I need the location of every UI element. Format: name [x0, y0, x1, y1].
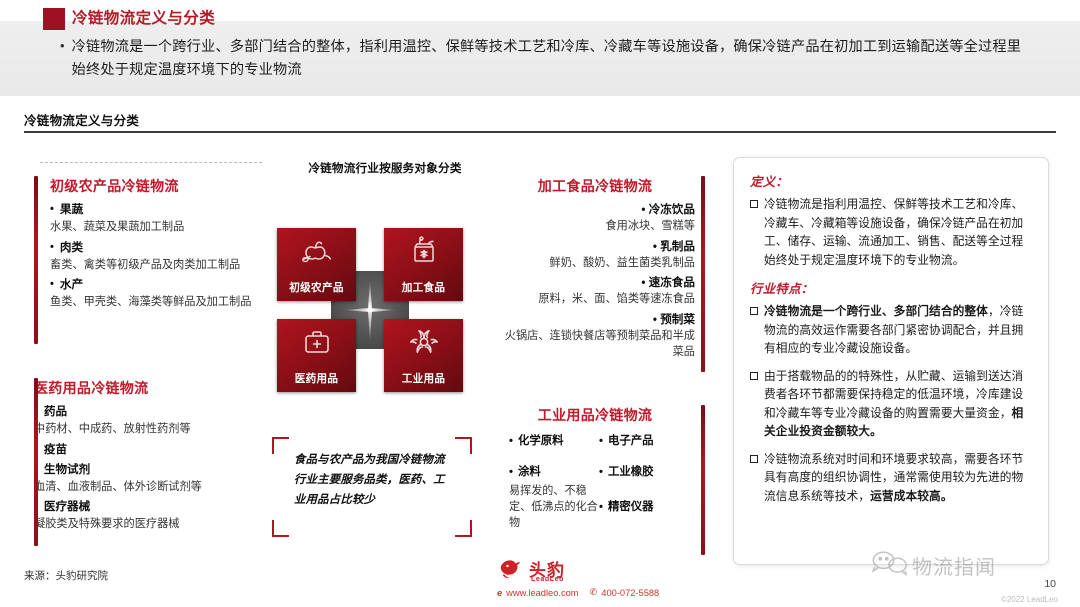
industrial-col-right: • 电子产品 • 工业橡胶 • 精密仪器: [599, 433, 689, 531]
globe-icon: e: [497, 588, 502, 598]
item-label: 冷冻饮品: [649, 203, 695, 216]
item-label: 预制菜: [660, 313, 695, 326]
bullet-dot-icon: •: [509, 464, 513, 481]
red-accent-bar: [34, 176, 38, 344]
diagram-title: 冷链物流行业按服务对象分类: [285, 160, 485, 176]
feature-item: 冷链物流是一个跨行业、多部门结合的整体，冷链物流的高效运作需要各部门紧密协调配合…: [750, 303, 1033, 359]
definition-text: 冷链物流是指利用温控、保鲜等技术工艺和冷库、冷藏车、冷藏箱等设施设备，确保冷链产…: [764, 196, 1033, 270]
list-item: • 速冻食品: [495, 274, 695, 291]
insight-callout: 食品与农产品为我国冷链物流行业主要服务品类，医药、工业用品占比较少: [272, 437, 472, 537]
item-label: 涂料: [518, 464, 541, 481]
list-item: • 医疗器械: [34, 498, 270, 515]
biohazard-icon: [406, 326, 442, 358]
item-label: 果蔬: [60, 201, 83, 218]
tile-label: 医药用品: [295, 371, 339, 386]
item-label: 医疗器械: [44, 498, 90, 515]
vegetables-icon: [299, 235, 335, 267]
item-desc: 水果、蔬菜及果蔬加工制品: [50, 219, 270, 236]
list-item: • 冷冻饮品: [495, 201, 695, 218]
item-desc: 鲜奶、酸奶、益生菌类乳制品: [495, 255, 695, 272]
feature-bold-lead: 冷链物流是一个跨行业、多部门结合的整体: [764, 305, 988, 318]
frozen-food-box-icon: [406, 235, 442, 267]
item-desc: 血清、血液制品、体外诊断试剂等: [34, 479, 270, 496]
contact-info: e www.leadleo.com ✆ 400-072-5588: [497, 587, 659, 598]
block-title: 医药用品冷链物流: [34, 378, 270, 398]
item-label: 化学原料: [518, 433, 564, 450]
page-number: 10: [1044, 578, 1056, 590]
item-label: 水产: [60, 276, 83, 293]
medical-kit-icon: [299, 326, 335, 358]
list-item: • 生物试剂: [34, 461, 270, 478]
list-item: • 水产: [50, 276, 270, 293]
block-title: 工业用品冷链物流: [495, 405, 695, 425]
classification-diagram: 初级农产品 加工食品 医药用品: [277, 228, 463, 392]
item-label: 疫苗: [44, 441, 67, 458]
bullet-dot-icon: •: [599, 433, 603, 450]
header-bullet-text: 冷链物流是一个跨行业、多部门结合的整体，指利用温控、保鲜等技术工艺和冷库、冷藏车…: [72, 36, 1032, 82]
list-item: • 涂料: [509, 464, 599, 481]
item-desc: 中药材、中成药、放射性药剂等: [34, 421, 270, 438]
list-item: • 化学原料: [509, 433, 599, 450]
bullet-dot-icon: •: [50, 276, 54, 293]
source-note: 来源：头豹研究院: [24, 568, 108, 583]
item-label: 药品: [44, 403, 67, 420]
corner-bracket-bl: [272, 520, 289, 537]
dashed-divider: [40, 162, 262, 163]
leopard-logo-icon: [498, 557, 526, 581]
bullet-dot-icon: •: [641, 276, 648, 289]
diagram-tile-industrial[interactable]: 工业用品: [384, 319, 463, 392]
list-item: • 疫苗: [34, 441, 270, 458]
industrial-col-left: • 化学原料 • 涂料 易挥发的、不稳定、低沸点的化合物: [509, 433, 599, 531]
item-label: 精密仪器: [608, 499, 654, 516]
item-desc: 食用冰块、雪糕等: [495, 218, 695, 235]
tile-label: 加工食品: [402, 280, 446, 295]
phone-icon: ✆: [590, 587, 598, 598]
watermark: 物流指闻: [868, 548, 1058, 582]
definition-heading: 定义：: [750, 172, 1033, 190]
wechat-icon: [868, 549, 912, 582]
section-divider: [24, 131, 1056, 133]
phone-text: 400-072-5588: [601, 588, 659, 598]
item-label: 速冻食品: [649, 276, 695, 289]
definition-item: 冷链物流是指利用温控、保鲜等技术工艺和冷库、冷藏车、冷藏箱等设施设备，确保冷链产…: [750, 196, 1033, 270]
category-block-industrial: 工业用品冷链物流 • 化学原料 • 涂料 易挥发的、不稳定、低沸点的化合物 • …: [495, 405, 695, 531]
list-item: • 乳制品: [495, 238, 695, 255]
section-title: 冷链物流定义与分类: [24, 110, 139, 129]
item-desc: 火锅店、连锁快餐店等预制菜品和半成菜品: [495, 328, 695, 361]
checkbox-square-icon: [750, 307, 758, 315]
item-label: 生物试剂: [44, 461, 90, 478]
item-desc: 原料，米、面、馅类等速冻食品: [495, 291, 695, 308]
list-item: • 果蔬: [50, 201, 270, 218]
logo-subtext: LeadLeo: [531, 576, 564, 583]
bullet-dot-icon: •: [599, 464, 603, 481]
header-red-marker: [43, 8, 65, 30]
diagram-tile-processed-food[interactable]: 加工食品: [384, 228, 463, 301]
list-item: • 电子产品: [599, 433, 689, 450]
block-title: 加工食品冷链物流: [495, 176, 695, 196]
bullet-dot-icon: •: [50, 201, 54, 218]
category-block-processed-food: 加工食品冷链物流 • 冷冻饮品 食用冰块、雪糕等 • 乳制品 鲜奶、酸奶、益生菌…: [495, 176, 695, 361]
item-label: 乳制品: [660, 240, 695, 253]
category-block-pharma: 医药用品冷链物流 • 药品 中药材、中成药、放射性药剂等 • 疫苗 • 生物试剂…: [34, 378, 270, 558]
insight-text: 食品与农产品为我国冷链物流行业主要服务品类，医药、工业用品占比较少: [294, 450, 454, 510]
diagram-tile-pharma[interactable]: 医药用品: [277, 319, 356, 392]
list-item: • 工业橡胶: [599, 464, 689, 481]
checkbox-square-icon: [750, 200, 758, 208]
item-label: 工业橡胶: [608, 464, 654, 481]
bullet-dot-icon: •: [50, 239, 54, 256]
corner-bracket-tl: [272, 437, 289, 454]
bullet-dot-icon: •: [641, 203, 648, 216]
checkbox-square-icon: [750, 372, 758, 380]
tile-label: 工业用品: [402, 371, 446, 386]
feature-item: 由于搭载物品的的特殊性，从贮藏、运输到送达消费者各环节都需要保持稳定的低温环境，…: [750, 368, 1033, 442]
list-item: • 预制菜: [495, 311, 695, 328]
copyright-text: ©2022 LeadLeo: [1001, 595, 1058, 604]
item-desc: 畜类、禽类等初级产品及肉类加工制品: [50, 257, 270, 274]
red-accent-bar: [701, 405, 705, 555]
definition-panel: 定义： 冷链物流是指利用温控、保鲜等技术工艺和冷库、冷藏车、冷藏箱等设施设备，确…: [733, 157, 1049, 565]
feature-text: 冷链物流系统对时间和环境要求较高，需要各环节具有高度的组织协调性，通常需使用较为…: [764, 451, 1033, 507]
features-heading: 行业特点：: [750, 279, 1033, 297]
item-label: 肉类: [60, 239, 83, 256]
item-desc: 凝胶类及特殊要求的医疗器械: [34, 516, 270, 533]
corner-bracket-br: [455, 520, 472, 537]
list-item: • 肉类: [50, 239, 270, 256]
feature-item: 冷链物流系统对时间和环境要求较高，需要各环节具有高度的组织协调性，通常需使用较为…: [750, 451, 1033, 507]
feature-bold-tail: 运营成本较高。: [870, 490, 953, 503]
corner-bracket-tr: [455, 437, 472, 454]
header-title: 冷链物流定义与分类: [72, 6, 215, 28]
feature-rest: 由于搭载物品的的特殊性，从贮藏、运输到送达消费者各环节都需要保持稳定的低温环境，…: [764, 370, 1023, 420]
bullet-dot-icon: •: [599, 499, 603, 516]
tile-label: 初级农产品: [289, 280, 343, 295]
watermark-text: 物流指闻: [912, 551, 996, 580]
header-band: 冷链物流定义与分类 • 冷链物流是一个跨行业、多部门结合的整体，指利用温控、保鲜…: [0, 0, 1080, 96]
item-label: 电子产品: [608, 433, 654, 450]
list-item: • 药品: [34, 403, 270, 420]
item-desc: 易挥发的、不稳定、低沸点的化合物: [509, 483, 599, 531]
bullet-dot-icon: •: [509, 433, 513, 450]
red-accent-bar: [701, 176, 705, 372]
leadleo-logo: 头豹 LeadLeo e www.leadleo.com ✆ 400-072-5…: [498, 557, 718, 603]
bullet-dot-icon: •: [60, 36, 65, 56]
feature-text: 冷链物流是一个跨行业、多部门结合的整体，冷链物流的高效运作需要各部门紧密协调配合…: [764, 303, 1033, 359]
website-text[interactable]: www.leadleo.com: [506, 588, 578, 598]
checkbox-square-icon: [750, 455, 758, 463]
diagram-tile-primary-agri[interactable]: 初级农产品: [277, 228, 356, 301]
category-block-primary-agri: 初级农产品冷链物流 • 果蔬 水果、蔬菜及果蔬加工制品 • 肉类 畜类、禽类等初…: [34, 176, 270, 362]
feature-text: 由于搭载物品的的特殊性，从贮藏、运输到送达消费者各环节都需要保持稳定的低温环境，…: [764, 368, 1033, 442]
header-bullet: • 冷链物流是一个跨行业、多部门结合的整体，指利用温控、保鲜等技术工艺和冷库、冷…: [60, 36, 1050, 82]
red-accent-bar: [34, 378, 38, 546]
list-item: • 精密仪器: [599, 499, 689, 516]
block-title: 初级农产品冷链物流: [50, 176, 270, 196]
item-desc: 鱼类、甲壳类、海藻类等鲜品及加工制品: [50, 294, 270, 311]
